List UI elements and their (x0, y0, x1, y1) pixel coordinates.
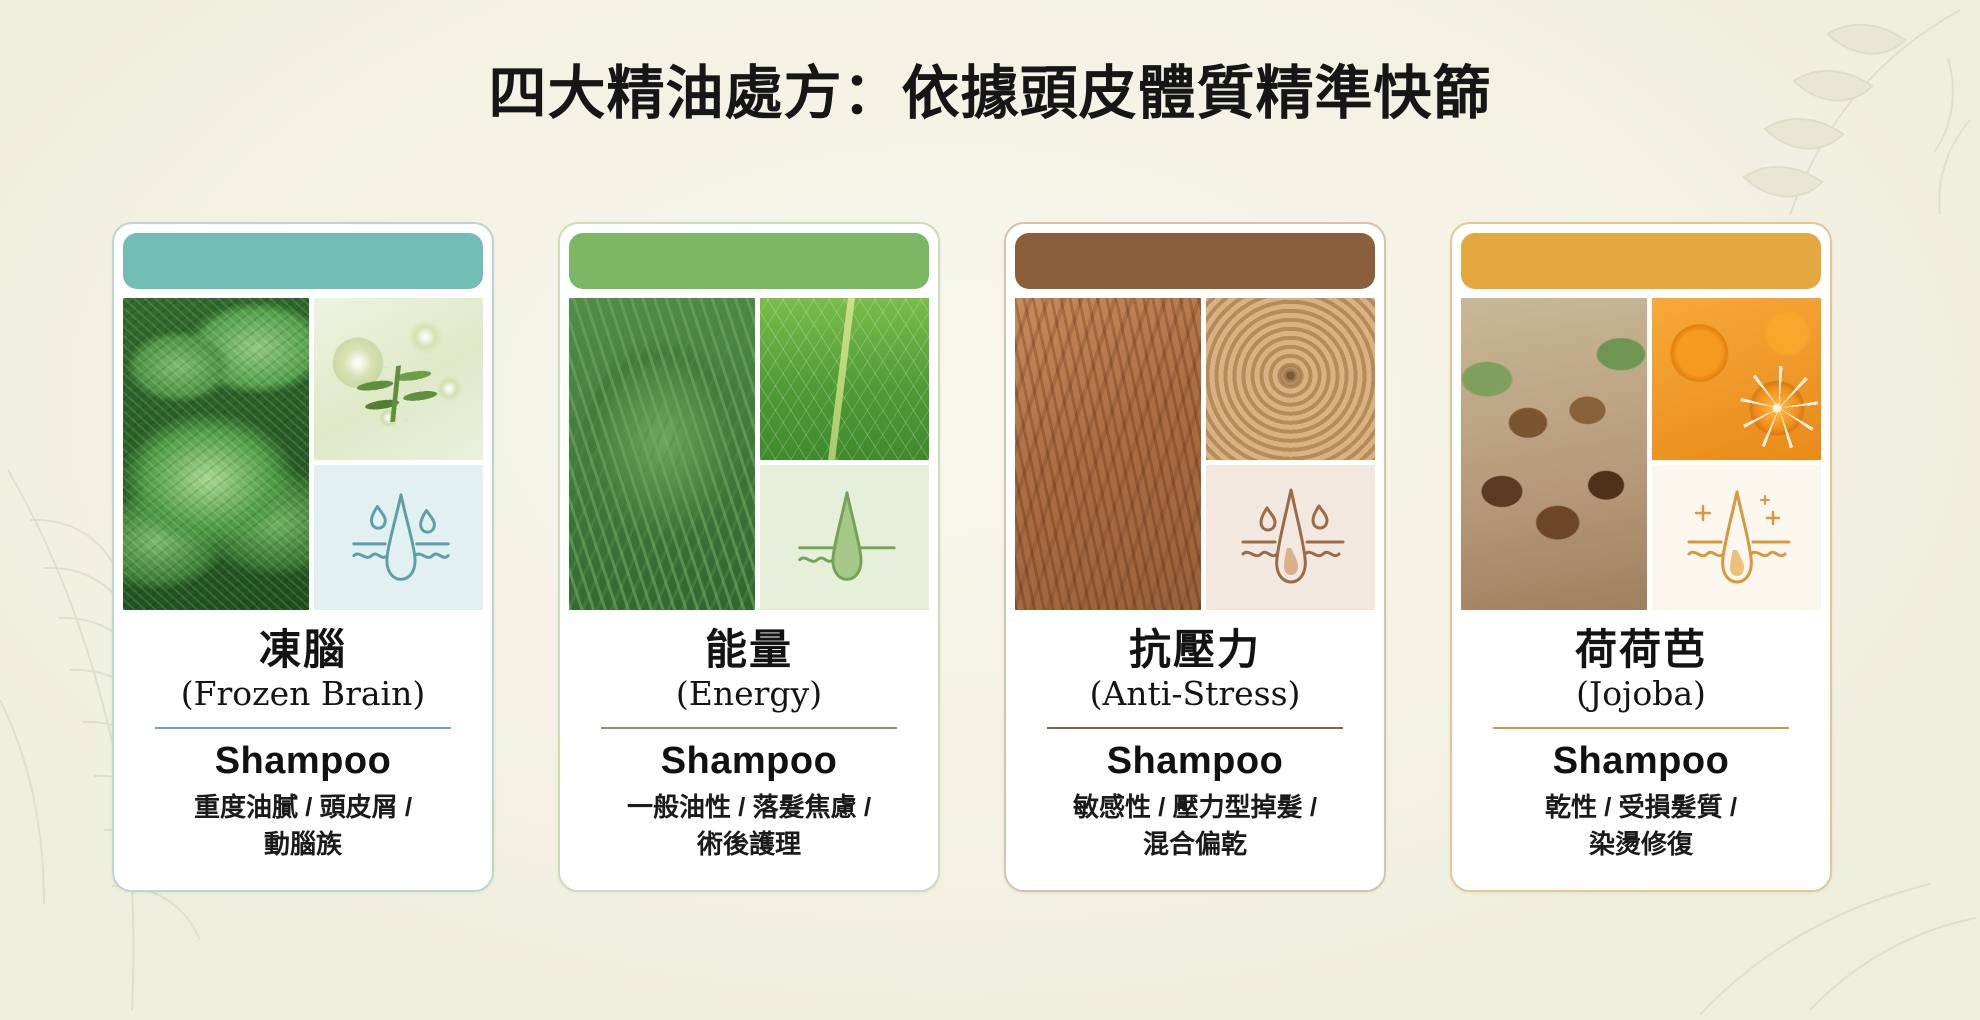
card-image-mosaic (1461, 298, 1821, 610)
card-product-label: Shampoo (137, 741, 469, 783)
card-divider (155, 727, 451, 729)
card-target-line-2: 混合偏乾 (1029, 826, 1361, 864)
card-image-mosaic (569, 298, 929, 610)
card-text-body: 抗壓力 (Anti-Stress) Shampoo 敏感性 / 壓力型掉髮 / … (1015, 610, 1375, 890)
card-target-line-2: 術後護理 (583, 826, 915, 864)
hair-follicle-icon-tile (760, 465, 929, 610)
card-text-body: 荷荷芭 (Jojoba) Shampoo 乾性 / 受損髮質 / 染燙修復 (1461, 610, 1821, 890)
card-accent-bar (569, 233, 929, 289)
card-target-line-1: 重度油膩 / 頭皮屑 / (137, 789, 469, 827)
card-image-mosaic (1015, 298, 1375, 610)
prescription-card-anti-stress[interactable]: 抗壓力 (Anti-Stress) Shampoo 敏感性 / 壓力型掉髮 / … (1004, 222, 1386, 892)
card-divider (601, 727, 897, 729)
card-target-line-1: 一般油性 / 落髮焦慮 / (583, 789, 915, 827)
tea-tree-oil-bubbles-photo (314, 298, 483, 460)
card-target-line-1: 乾性 / 受損髮質 / (1475, 789, 1807, 827)
card-target-line-2: 染燙修復 (1475, 826, 1807, 864)
sandalwood-sticks-photo (1015, 298, 1201, 610)
card-name-en: (Frozen Brain) (137, 675, 469, 713)
card-product-label: Shampoo (583, 741, 915, 783)
card-name-cn: 荷荷芭 (1475, 626, 1807, 673)
page-title: 四大精油處方：依據頭皮體質精準快篩 (0, 62, 1980, 126)
orange-slices-photo (1652, 298, 1821, 460)
page-title-container: 四大精油處方：依據頭皮體質精準快篩 (0, 62, 1980, 126)
card-target-line-2: 動腦族 (137, 826, 469, 864)
card-name-cn: 能量 (583, 626, 915, 673)
prescription-card-jojoba[interactable]: 荷荷芭 (Jojoba) Shampoo 乾性 / 受損髮質 / 染燙修復 (1450, 222, 1832, 892)
prescription-card-energy[interactable]: 能量 (Energy) Shampoo 一般油性 / 落髮焦慮 / 術後護理 (558, 222, 940, 892)
mint-leaves-photo (123, 298, 309, 610)
card-accent-bar (1015, 233, 1375, 289)
hair-follicle-icon (1229, 482, 1353, 594)
card-target-line-1: 敏感性 / 壓力型掉髮 / (1029, 789, 1361, 827)
card-image-mosaic (123, 298, 483, 610)
card-divider (1493, 727, 1789, 729)
wood-cross-section-photo (1206, 298, 1375, 460)
prescription-card-frozen-brain[interactable]: 凍腦 (Frozen Brain) Shampoo 重度油膩 / 頭皮屑 / 動… (112, 222, 494, 892)
card-accent-bar (123, 233, 483, 289)
hair-follicle-icon-tile (1206, 465, 1375, 610)
jojoba-seeds-photo (1461, 298, 1647, 610)
rosemary-sprig-photo (569, 298, 755, 610)
hair-follicle-icon-tile (314, 465, 483, 610)
card-divider (1047, 727, 1343, 729)
card-name-en: (Anti-Stress) (1029, 675, 1361, 713)
card-product-label: Shampoo (1029, 741, 1361, 783)
hair-follicle-icon (340, 482, 458, 594)
prescription-cards-row: 凍腦 (Frozen Brain) Shampoo 重度油膩 / 頭皮屑 / 動… (112, 222, 1874, 892)
card-name-cn: 抗壓力 (1029, 626, 1361, 673)
hair-follicle-icon (786, 482, 904, 594)
card-name-en: (Energy) (583, 675, 915, 713)
card-text-body: 凍腦 (Frozen Brain) Shampoo 重度油膩 / 頭皮屑 / 動… (123, 610, 483, 890)
card-text-body: 能量 (Energy) Shampoo 一般油性 / 落髮焦慮 / 術後護理 (569, 610, 929, 890)
card-product-label: Shampoo (1475, 741, 1807, 783)
card-name-en: (Jojoba) (1475, 675, 1807, 713)
hair-follicle-sparkle-icon (1675, 482, 1799, 594)
card-accent-bar (1461, 233, 1821, 289)
card-name-cn: 凍腦 (137, 626, 469, 673)
green-leaf-macro-photo (760, 298, 929, 460)
hair-follicle-sparkle-icon-tile (1652, 465, 1821, 610)
